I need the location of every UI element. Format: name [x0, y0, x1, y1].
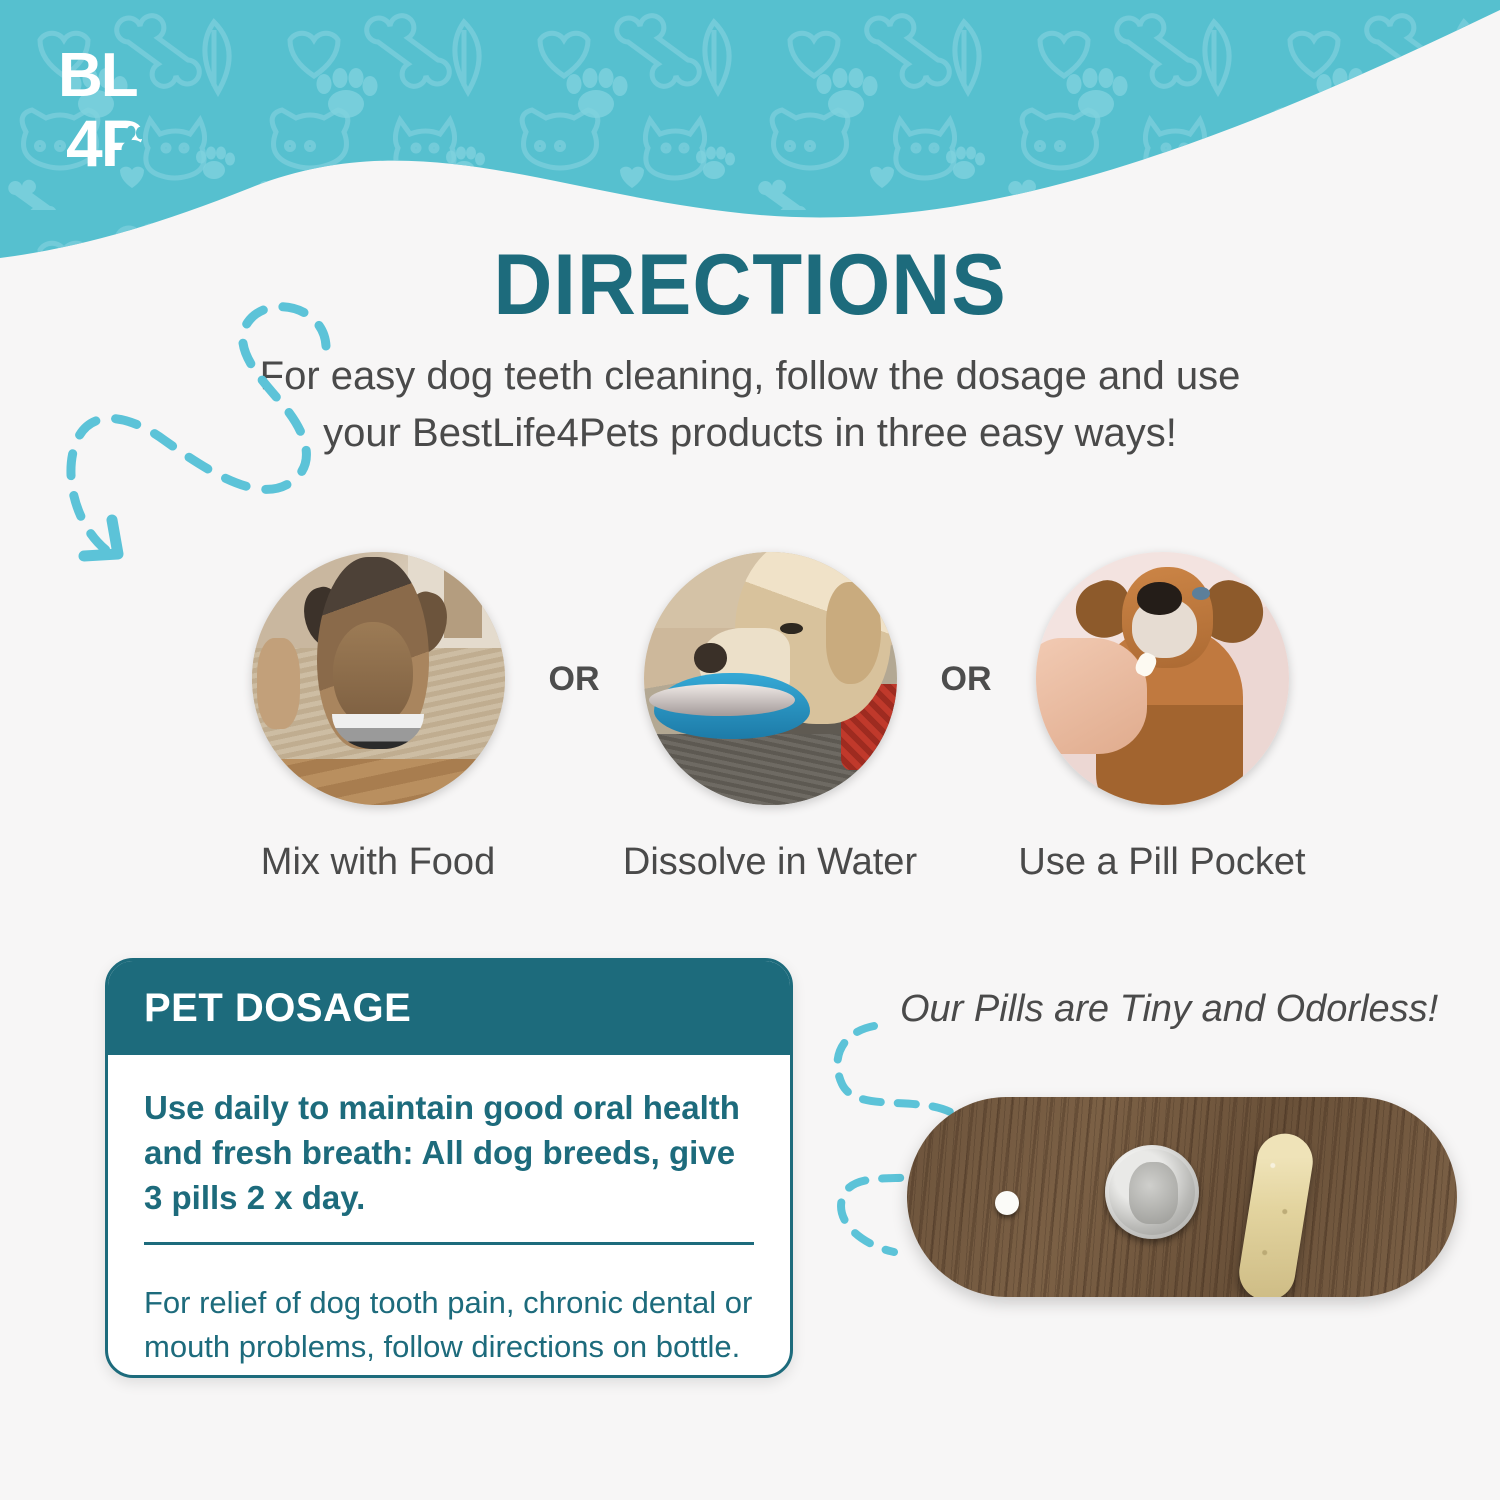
- pill-size-comparison-photo: [907, 1097, 1457, 1297]
- brand-logo: BL 4P: [58, 46, 168, 176]
- dog-eating-from-bowl-photo: [252, 552, 505, 805]
- or-separator-1: OR: [528, 660, 620, 699]
- three-ways-row: Mix with Food OR Dissolve in Water: [180, 552, 1360, 872]
- svg-text:4P: 4P: [66, 106, 143, 176]
- way-label: Dissolve in Water: [623, 841, 917, 884]
- tiny-white-pill: [995, 1191, 1019, 1215]
- pet-dosage-body: Use daily to maintain good oral health a…: [108, 1055, 790, 1255]
- svg-text:BL: BL: [58, 46, 137, 110]
- way-item-dissolve-in-water[interactable]: Dissolve in Water: [620, 552, 920, 884]
- pet-dosage-heading: PET DOSAGE: [108, 961, 790, 1055]
- way-label: Mix with Food: [261, 841, 495, 884]
- dime-coin: [1105, 1145, 1199, 1239]
- way-item-use-a-pill-pocket[interactable]: Use a Pill Pocket: [1012, 552, 1312, 884]
- dosage-secondary-text: For relief of dog tooth pain, chronic de…: [108, 1255, 790, 1369]
- large-beige-capsule: [1235, 1130, 1317, 1297]
- pet-dosage-card: PET DOSAGE Use daily to maintain good or…: [105, 958, 793, 1378]
- dog-drinking-from-water-bowl-photo: [644, 552, 897, 805]
- dosage-divider: [144, 1242, 754, 1245]
- page-subtitle: For easy dog teeth cleaning, follow the …: [250, 348, 1250, 462]
- way-label: Use a Pill Pocket: [1018, 841, 1305, 884]
- dashed-arrow-icon: [48, 288, 348, 588]
- or-separator-2: OR: [920, 660, 1012, 699]
- infographic-page: BL 4P DIRECTIONS For easy dog teeth clea…: [0, 0, 1500, 1500]
- hand-giving-pill-to-dog-photo: [1036, 552, 1289, 805]
- way-item-mix-with-food[interactable]: Mix with Food: [228, 552, 528, 884]
- header-band: [0, 0, 1500, 270]
- dosage-primary-text: Use daily to maintain good oral health a…: [144, 1085, 754, 1220]
